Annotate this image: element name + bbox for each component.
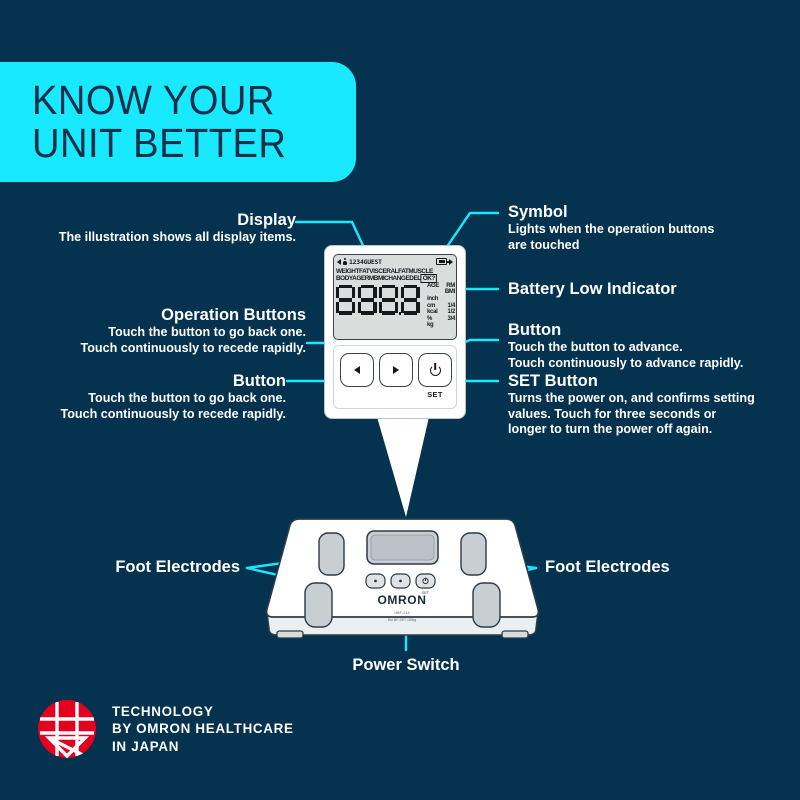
callout-operation-buttons-body-0: Touch the button to go back one. (10, 325, 306, 341)
lcd-unit-4-left: kcal (427, 309, 437, 316)
triangle-left-icon (374, 580, 377, 583)
callout-symbol: Symbol Lights when the operation buttons… (508, 202, 788, 253)
foot-electrode-bottom-left (305, 583, 332, 627)
lcd-unit-4-right: 1/2 (448, 309, 455, 316)
lcd-unit-3-left: cm (427, 303, 435, 310)
callout-set-button-body-0: Turns the power on, and confirms setting (508, 391, 796, 407)
lcd-status-bar: 1234GUEST (334, 255, 456, 268)
lcd-unit-6-left: kg (427, 322, 433, 329)
lcd-unit-row-2: inch (427, 296, 455, 303)
lcd-screen: 1234GUEST WEIGHTFATVISCERALFATMUSCLE BOD… (333, 254, 457, 340)
lcd-label-row-2: BODYAGERMBMICHANGEDELOK? (336, 275, 450, 282)
lcd-unit-0-right: RM (446, 283, 455, 290)
title-line-1: KNOW YOUR (32, 79, 333, 122)
callout-display-body-0: The illustration shows all display items… (20, 230, 296, 246)
lcd-digit-1 (336, 285, 355, 315)
lcd-unit-row-6: kg (427, 322, 455, 329)
scale-display-glass (371, 535, 434, 560)
callout-button-right-body-1: Touch continuously to advance rapidly. (508, 356, 792, 372)
lcd-unit-row-4: kcal 1/2 (427, 309, 455, 316)
foot-electrode-bottom-right (473, 583, 500, 627)
triangle-right-icon (393, 366, 399, 374)
foot-electrode-top-left (319, 533, 344, 575)
callout-battery-low-indicator: Battery Low Indicator (508, 279, 788, 299)
callout-power-switch-heading: Power Switch (306, 655, 506, 675)
scale-svg: SET OMRON HBF-214 BIA BF-SET 150kg (255, 505, 550, 650)
lcd-unit-5-right: 3/4 (448, 316, 455, 323)
battery-icon (436, 258, 447, 265)
callout-set-button-heading: SET Button (508, 371, 796, 391)
lcd-unit-3-right: 1/4 (448, 303, 455, 310)
triangle-left-icon (337, 259, 341, 265)
forward-button[interactable] (379, 353, 413, 387)
lcd-user-id: 1234GUEST (349, 258, 382, 266)
footer-line-2: IN JAPAN (112, 738, 294, 756)
scale-illustration: SET OMRON HBF-214 BIA BF-SET 150kg (255, 505, 550, 650)
person-icon (343, 258, 347, 266)
scale-model-line-2: BIA BF-SET 150kg (388, 618, 417, 622)
callout-foot-electrodes-right: Foot Electrodes (545, 557, 785, 577)
triangle-right-icon (449, 259, 453, 265)
set-power-button[interactable] (418, 353, 452, 387)
magnified-unit-panel: 1234GUEST WEIGHTFATVISCERALFATMUSCLE BOD… (325, 246, 465, 418)
lcd-digit-4 (401, 285, 420, 315)
callout-foot-electrodes-left-heading: Foot Electrodes (20, 557, 240, 577)
scale-foot-left (277, 631, 303, 638)
footer-line-1: BY OMRON HEALTHCARE (112, 720, 294, 738)
callout-button-left-body-1: Touch continuously to recede rapidly. (10, 407, 286, 423)
foot-electrode-top-right (461, 533, 486, 575)
callout-battery-low-indicator-heading: Battery Low Indicator (508, 279, 788, 299)
lcd-unit-row-1: BMI (427, 289, 455, 296)
callout-button-right-body-0: Touch the button to advance. (508, 340, 792, 356)
callout-set-button: SET Button Turns the power on, and confi… (508, 371, 796, 438)
lcd-unit-row-3: cm 1/4 (427, 303, 455, 310)
lcd-main-area: AGE RM BMI inch cm 1/4 (334, 283, 456, 339)
callout-symbol-body-1: are touched (508, 238, 788, 254)
callout-set-button-body-1: values. Touch for three seconds or (508, 407, 796, 423)
lcd-units-column: AGE RM BMI inch cm 1/4 (427, 283, 455, 329)
callout-operation-buttons: Operation Buttons Touch the button to go… (10, 305, 306, 356)
footer: TECHNOLOGY BY OMRON HEALTHCARE IN JAPAN (38, 700, 294, 758)
callout-symbol-heading: Symbol (508, 202, 788, 222)
lcd-unit-row-5: % 3/4 (427, 316, 455, 323)
callout-button-right: Button Touch the button to advance. Touc… (508, 320, 792, 371)
lcd-unit-5-left: % (427, 316, 432, 323)
power-icon (430, 365, 441, 376)
triangle-left-icon (354, 366, 360, 374)
title-banner: KNOW YOUR UNIT BETTER (0, 62, 356, 182)
omron-logo-svg (38, 700, 96, 758)
callout-button-left: Button Touch the button to go back one. … (10, 371, 286, 422)
omron-circle-logo (38, 700, 96, 758)
callout-symbol-body-0: Lights when the operation buttons (508, 222, 788, 238)
lcd-digit-3 (379, 285, 398, 315)
callout-set-button-body-2: longer to turn the power off again. (508, 422, 796, 438)
lcd-unit-row-0: AGE RM (427, 283, 455, 290)
callout-foot-electrodes-right-heading: Foot Electrodes (545, 557, 785, 577)
lcd-label-rows: WEIGHTFATVISCERALFATMUSCLE BODYAGERMBMIC… (334, 268, 456, 283)
footer-line-0: TECHNOLOGY (112, 703, 294, 721)
lcd-digits (336, 285, 420, 315)
triangle-right-icon (399, 580, 402, 583)
callout-operation-buttons-body-1: Touch continuously to recede rapidly. (10, 341, 306, 357)
callout-button-right-heading: Button (508, 320, 792, 340)
lcd-unit-2-left: inch (427, 296, 438, 303)
callout-operation-buttons-heading: Operation Buttons (10, 305, 306, 325)
infographic-canvas: KNOW YOUR UNIT BETTER (0, 0, 800, 800)
lcd-digit-2 (358, 285, 377, 315)
back-button[interactable] (340, 353, 374, 387)
scale-model-line-1: HBF-214 (394, 611, 409, 615)
callout-button-left-body-0: Touch the button to go back one. (10, 391, 286, 407)
callout-display-heading: Display (20, 210, 296, 230)
lcd-label-row-2-text: BODYAGERMBMICHANGEDEL (336, 275, 421, 282)
scale-brand-logo: OMRON (378, 593, 427, 607)
footer-text: TECHNOLOGY BY OMRON HEALTHCARE IN JAPAN (112, 703, 294, 756)
scale-foot-right (502, 631, 528, 638)
lcd-unit-0-left: AGE (427, 283, 439, 290)
callout-tail (375, 417, 431, 517)
callout-button-left-heading: Button (10, 371, 286, 391)
callout-display: Display The illustration shows all displ… (20, 210, 296, 246)
set-button-label: SET (418, 390, 452, 399)
title-line-2: UNIT BETTER (32, 122, 333, 165)
callout-power-switch: Power Switch (306, 655, 506, 675)
callout-foot-electrodes-left: Foot Electrodes (20, 557, 240, 577)
lcd-unit-1-right: BMI (445, 289, 455, 296)
unit-button-area: SET (333, 345, 457, 409)
